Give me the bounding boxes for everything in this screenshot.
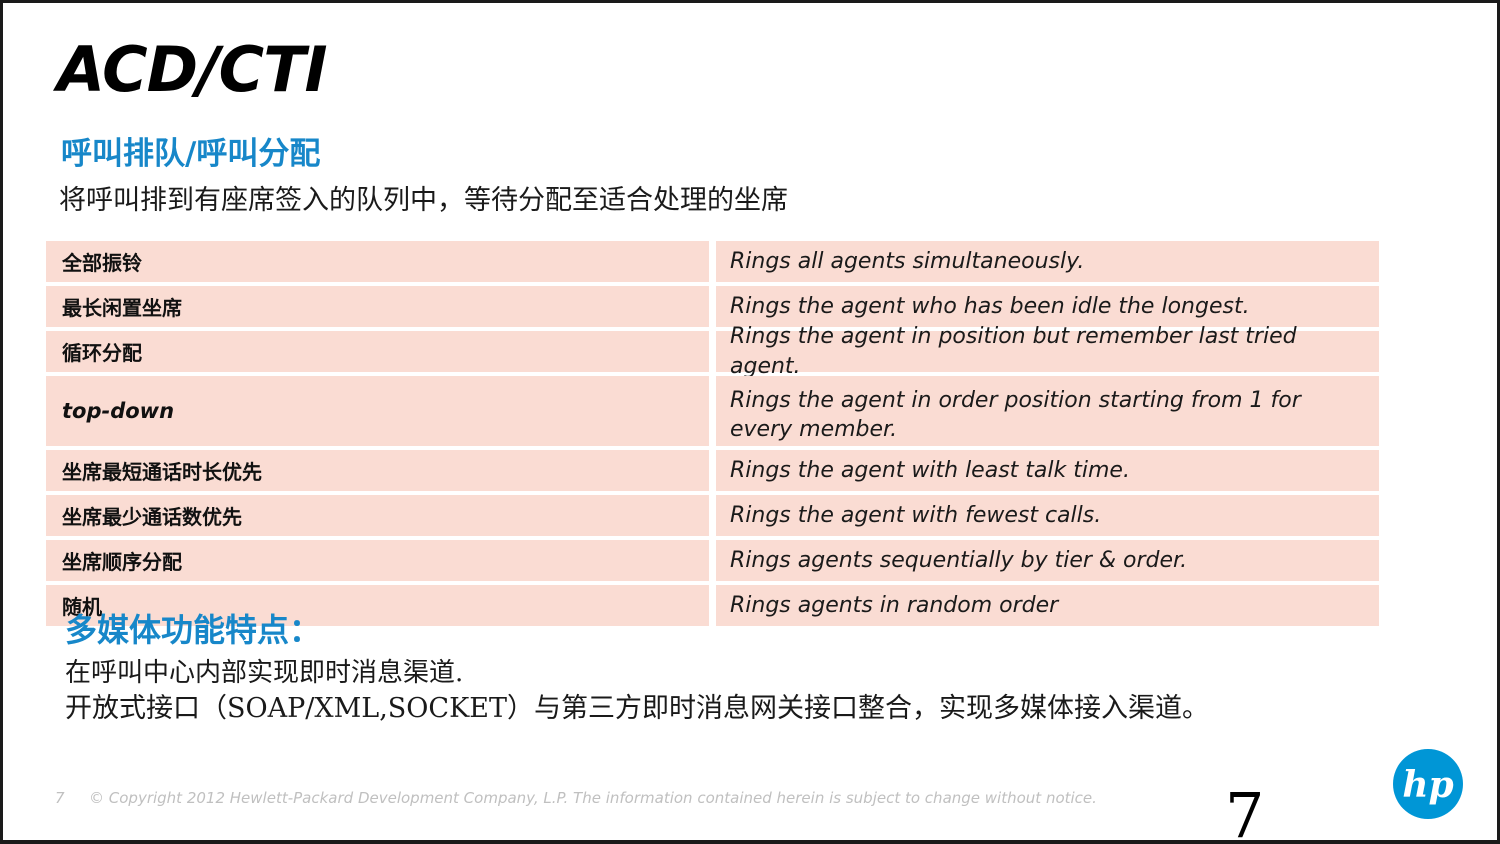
table-row: 坐席顺序分配 Rings agents sequentially by tier…: [46, 540, 1379, 581]
table-cell-strategy: top-down: [46, 376, 709, 446]
table-cell-strategy: 循环分配: [46, 331, 709, 372]
section-heading-multimedia: 多媒体功能特点：: [65, 613, 321, 648]
table-cell-description: Rings the agent who has been idle the lo…: [716, 286, 1379, 327]
footer-copyright: © Copyright 2012 Hewlett-Packard Develop…: [89, 789, 1097, 807]
multimedia-body-line-2: 开放式接口（SOAP/XML,SOCKET）与第三方即时消息网关接口整合，实现多…: [65, 693, 1209, 725]
slide-number: 7: [1225, 785, 1264, 844]
column-divider: [709, 376, 716, 446]
slide-canvas: ACD/CTI 呼叫排队/呼叫分配 将呼叫排到有座席签入的队列中，等待分配至适合…: [0, 0, 1500, 844]
hp-logo: hp: [1392, 748, 1464, 820]
table-cell-description: Rings agents in random order: [716, 585, 1379, 626]
table-cell-description: Rings all agents simultaneously.: [716, 241, 1379, 282]
column-divider: [709, 331, 716, 372]
table-cell-description: Rings agents sequentially by tier & orde…: [716, 540, 1379, 581]
column-divider: [709, 585, 716, 626]
column-divider: [709, 540, 716, 581]
column-divider: [709, 241, 716, 282]
section-intro-text: 将呼叫排到有座席签入的队列中，等待分配至适合处理的坐席: [59, 185, 788, 217]
table-row: top-down Rings the agent in order positi…: [46, 376, 1379, 446]
footer-page-number: 7: [55, 789, 65, 807]
section-heading-queue: 呼叫排队/呼叫分配: [61, 137, 320, 171]
table-cell-strategy: 坐席最少通话数优先: [46, 495, 709, 536]
column-divider: [709, 450, 716, 491]
column-divider: [709, 495, 716, 536]
table-cell-strategy: 最长闲置坐席: [46, 286, 709, 327]
table-row: 全部振铃 Rings all agents simultaneously.: [46, 241, 1379, 282]
table-row: 最长闲置坐席 Rings the agent who has been idle…: [46, 286, 1379, 327]
table-row: 坐席最少通话数优先 Rings the agent with fewest ca…: [46, 495, 1379, 536]
table-cell-description: Rings the agent with least talk time.: [716, 450, 1379, 491]
table-row: 循环分配 Rings the agent in position but rem…: [46, 331, 1379, 372]
svg-text:hp: hp: [1402, 764, 1453, 806]
table-cell-description: Rings the agent in order position starti…: [716, 376, 1379, 446]
table-cell-strategy: 坐席最短通话时长优先: [46, 450, 709, 491]
page-title: ACD/CTI: [57, 37, 327, 102]
table-cell-strategy: 全部振铃: [46, 241, 709, 282]
routing-strategy-table: 全部振铃 Rings all agents simultaneously. 最长…: [46, 241, 1379, 630]
table-cell-description: Rings the agent with fewest calls.: [716, 495, 1379, 536]
table-row: 坐席最短通话时长优先 Rings the agent with least ta…: [46, 450, 1379, 491]
table-cell-strategy: 坐席顺序分配: [46, 540, 709, 581]
multimedia-body-line-1: 在呼叫中心内部实现即时消息渠道.: [65, 658, 463, 689]
table-cell-description: Rings the agent in position but remember…: [716, 331, 1379, 372]
column-divider: [709, 286, 716, 327]
